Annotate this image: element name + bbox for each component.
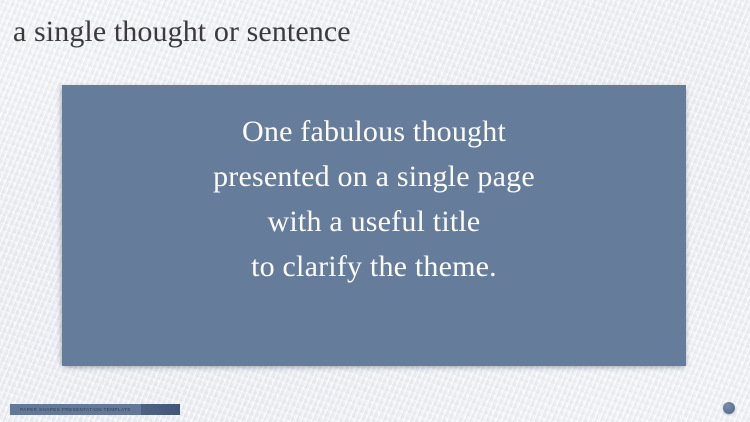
decorative-dot-icon: [723, 402, 735, 414]
slide-title: a single thought or sentence: [13, 14, 713, 50]
panel-body-text: One fabulous thought presented on a sing…: [62, 109, 686, 289]
presentation-slide: a single thought or sentence One fabulou…: [0, 0, 750, 422]
panel-body-line-2: presented on a single page: [62, 154, 686, 199]
panel-body-line-4: to clarify the theme.: [62, 244, 686, 289]
footer-bar: PAPER SHAPES PRESENTATION TEMPLATE: [10, 404, 180, 415]
panel-body-line-1: One fabulous thought: [62, 109, 686, 154]
panel-body-line-3: with a useful title: [62, 199, 686, 244]
content-panel: One fabulous thought presented on a sing…: [62, 85, 686, 366]
footer-label: PAPER SHAPES PRESENTATION TEMPLATE: [20, 405, 131, 414]
